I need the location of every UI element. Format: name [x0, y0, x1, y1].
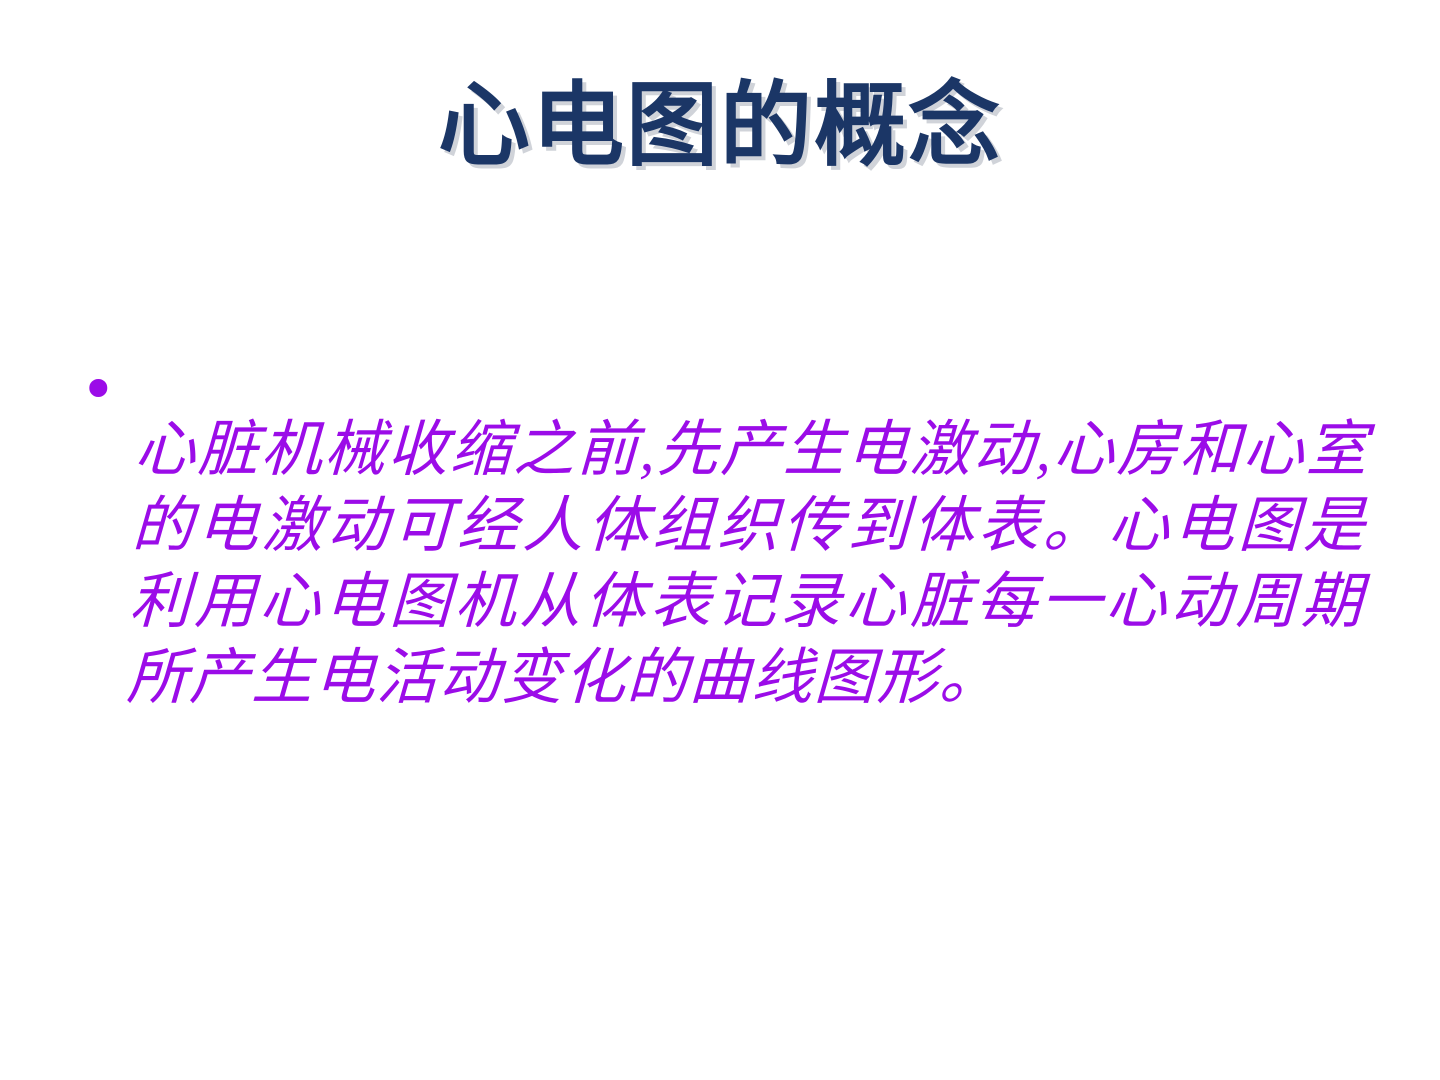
slide-title-container: 心电图的概念 — [0, 72, 1440, 181]
bullet-item-text: 心脏机械收缩之前,先产生电激动,心房和心室的电激动可经人体组织传到体表。心电图是… — [125, 413, 1370, 717]
slide-body-container: • 心脏机械收缩之前,先产生电激动,心房和心室的电激动可经人体组织传到体表。心电… — [80, 352, 1370, 778]
presentation-slide: 心电图的概念 • 心脏机械收缩之前,先产生电激动,心房和心室的电激动可经人体组织… — [0, 0, 1440, 1080]
bullet-point-icon: • — [80, 352, 136, 428]
bullet-list-item: • 心脏机械收缩之前,先产生电激动,心房和心室的电激动可经人体组织传到体表。心电… — [80, 352, 1370, 778]
page-title: 心电图的概念 — [438, 72, 1002, 181]
